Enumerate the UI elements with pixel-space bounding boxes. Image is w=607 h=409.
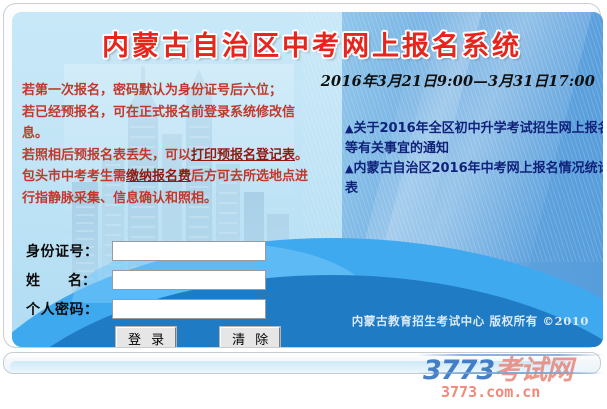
page-title: 内蒙古自治区中考网上报名系统 [72, 24, 552, 63]
id-number-label: 身份证号： [26, 241, 112, 261]
lower-decorative-bar-fill [10, 361, 570, 372]
id-number-input[interactable] [112, 241, 266, 261]
notice-line-3: 若照相后预报名表丢失，可以打印预报名登记表。 [22, 145, 314, 167]
personal-password-input[interactable] [112, 299, 266, 319]
page-root: 内蒙古自治区中考网上报名系统 2016年3月21日9:00—3月31日17:00… [0, 0, 607, 409]
header-band: 内蒙古自治区中考网上报名系统 [12, 12, 603, 74]
pay-registration-fee-link[interactable]: 缴纳报名费 [126, 169, 191, 184]
notice-line-1: 若第一次报名，密码默认为身份证号后六位； [22, 80, 314, 102]
announcement-list: ▲关于2016年全区初中升学考试招生网上报名等有关事宜的通知 ▲内蒙古自治区20… [345, 119, 603, 199]
notice-line-3-prefix: 若照相后预报名表丢失，可以 [22, 148, 191, 163]
copyright-text: 内蒙古教育招生考试中心 版权所有 ©2010 [352, 313, 589, 329]
notice-line-4-prefix: 包头市中考考生需 [22, 169, 126, 184]
form-row-student-name: 姓 名： [26, 269, 286, 291]
content-panel: 内蒙古自治区中考网上报名系统 2016年3月21日9:00—3月31日17:00… [12, 12, 603, 347]
print-pre-registration-form-link[interactable]: 打印预报名登记表 [191, 148, 295, 163]
announcement-item-2[interactable]: ▲内蒙古自治区2016年中考网上报名情况统计表 [345, 159, 603, 199]
watermark-url: 3773.com.cn [441, 383, 540, 401]
student-name-label: 姓 名： [26, 270, 112, 290]
notice-block: 若第一次报名，密码默认为身份证号后六位； 若已经预报名，可在正式报名前登录系统修… [22, 80, 314, 232]
personal-password-label: 个人密码： [26, 299, 112, 319]
clear-button[interactable]: 清 除 [220, 327, 280, 347]
announcement-link-2[interactable]: 内蒙古自治区2016年中考网上报名情况统计表 [345, 161, 603, 196]
form-row-id-number: 身份证号： [26, 240, 286, 262]
lower-decorative-bar [3, 352, 601, 374]
main-frame: 内蒙古自治区中考网上报名系统 2016年3月21日9:00—3月31日17:00… [3, 3, 601, 348]
announcement-item-1[interactable]: ▲关于2016年全区初中升学考试招生网上报名等有关事宜的通知 [345, 119, 603, 159]
login-button[interactable]: 登 录 [116, 327, 176, 347]
form-button-row: 登 录 清 除 [116, 327, 286, 347]
announcement-link-1[interactable]: 关于2016年全区初中升学考试招生网上报名等有关事宜的通知 [345, 121, 603, 156]
form-row-personal-password: 个人密码： [26, 298, 286, 320]
notice-line-3-suffix: 。 [295, 148, 308, 163]
student-name-input[interactable] [112, 270, 266, 290]
notice-line-2: 若已经预报名，可在正式报名前登录系统修改信息。 [22, 102, 314, 145]
login-form[interactable]: 身份证号： 姓 名： 个人密码： 登 录 清 除 [26, 240, 286, 347]
notice-line-4: 包头市中考考生需缴纳报名费后方可去所选地点进行指静脉采集、信息确认和照相。 [22, 166, 314, 209]
registration-period-text: 2016年3月21日9:00—3月31日17:00 [321, 70, 595, 91]
